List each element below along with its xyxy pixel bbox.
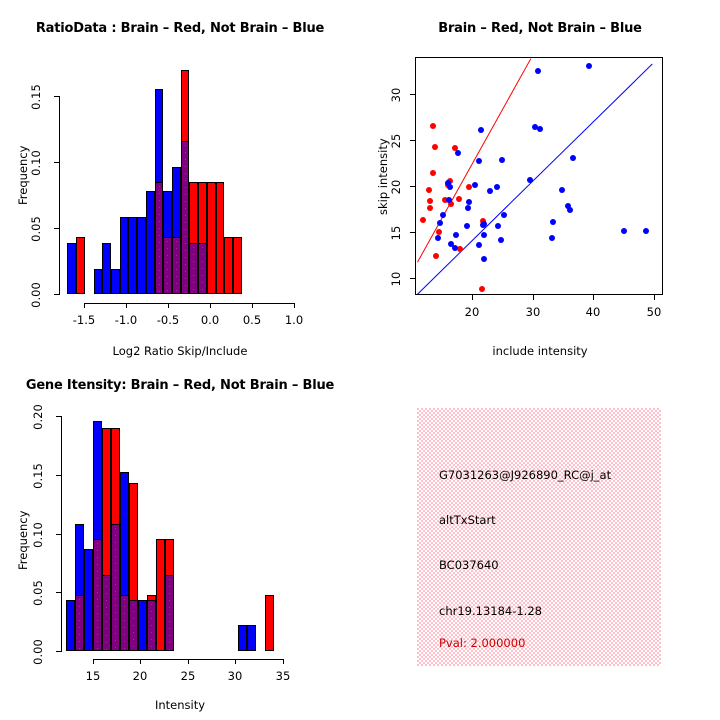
scatter-point bbox=[437, 220, 443, 226]
scatter-ylabel: skip intensity bbox=[376, 138, 390, 215]
scatter-point bbox=[452, 245, 458, 251]
scatter-ytick-4: 30 bbox=[389, 83, 403, 107]
ratio-histogram-xlabel: Log2 Ratio Skip/Include bbox=[0, 344, 360, 358]
histogram-bar-overlap bbox=[129, 600, 138, 651]
scatter-x-tick-1 bbox=[533, 295, 534, 300]
gene-x-tick-3 bbox=[235, 659, 236, 664]
gene-histogram-xlabel: Intensity bbox=[0, 698, 360, 712]
x-tick-2 bbox=[168, 303, 169, 308]
gene-histogram-ytick-0: 0.00 bbox=[31, 636, 45, 668]
scatter-point bbox=[420, 217, 426, 223]
gene-histogram-xtick-3: 30 bbox=[215, 669, 255, 683]
histogram-bar bbox=[84, 549, 93, 651]
histogram-bar bbox=[111, 269, 120, 294]
scatter-point bbox=[479, 286, 485, 292]
scatter-point bbox=[456, 196, 462, 202]
histogram-bar bbox=[156, 539, 165, 651]
histogram-bar bbox=[120, 217, 129, 294]
ratio-histogram-ytick-3: 0.15 bbox=[29, 81, 43, 113]
ratio-histogram-ytick-0: 0.00 bbox=[29, 279, 43, 311]
scatter-point bbox=[559, 187, 565, 193]
y-tick-2 bbox=[54, 162, 59, 163]
scatter-ytick-0: 10 bbox=[389, 267, 403, 291]
scatter-point bbox=[481, 232, 487, 238]
scatter-point bbox=[455, 150, 461, 156]
histogram-bar-overlap bbox=[120, 595, 129, 651]
scatter-ytick-2: 20 bbox=[389, 175, 403, 199]
gene-y-tick-2 bbox=[56, 534, 61, 535]
gene-histogram-xtick-2: 25 bbox=[168, 669, 208, 683]
ratio-histogram-y-axis bbox=[59, 96, 60, 295]
ratio-histogram-xtick-3: 0.0 bbox=[190, 313, 230, 327]
gene-histogram-ytick-2: 0.10 bbox=[31, 519, 45, 551]
scatter-point bbox=[570, 155, 576, 161]
histogram-bar bbox=[76, 237, 85, 294]
gene-histogram-title: Gene Itensity: Brain – Red, Not Brain – … bbox=[0, 378, 360, 393]
histogram-bar-overlap bbox=[111, 524, 120, 651]
pval-text: Pval: 2.000000 bbox=[439, 636, 525, 650]
histogram-bar-overlap bbox=[172, 237, 181, 294]
scatter-y-tick-0 bbox=[410, 278, 415, 279]
gene-histogram-y-axis bbox=[61, 416, 62, 652]
histogram-bar bbox=[265, 595, 274, 651]
x-tick-5 bbox=[294, 303, 295, 308]
gene-histogram-ylabel: Frequency bbox=[16, 511, 30, 570]
histogram-bar bbox=[128, 217, 137, 294]
scatter-y-tick-2 bbox=[410, 186, 415, 187]
gene-y-tick-0 bbox=[56, 651, 61, 652]
scatter-xtick-3: 50 bbox=[634, 305, 674, 319]
scatter-point bbox=[537, 126, 543, 132]
histogram-bar bbox=[224, 237, 233, 294]
panel-ratio-histogram: RatioData : Brain – Red, Not Brain – Blu… bbox=[0, 0, 360, 360]
histogram-bar-overlap bbox=[155, 182, 164, 294]
histogram-bar-overlap bbox=[165, 575, 174, 651]
scatter-x-tick-2 bbox=[593, 295, 594, 300]
gene-x-tick-2 bbox=[188, 659, 189, 664]
histogram-bar bbox=[238, 625, 247, 651]
histogram-bar bbox=[247, 625, 256, 651]
scatter-xtick-2: 40 bbox=[573, 305, 613, 319]
y-tick-3 bbox=[54, 96, 59, 97]
ratio-histogram-xtick-1: -1.0 bbox=[106, 313, 146, 327]
locus-text: chr19.13184-1.28 bbox=[439, 604, 542, 618]
scatter-point bbox=[464, 223, 470, 229]
scatter-point bbox=[476, 158, 482, 164]
ratio-histogram-xtick-0: -1.5 bbox=[64, 313, 104, 327]
scatter-ytick-1: 15 bbox=[389, 221, 403, 245]
gene-y-tick-4 bbox=[56, 416, 61, 417]
gene-histogram-ytick-3: 0.15 bbox=[31, 460, 45, 492]
scatter-y-tick-3 bbox=[410, 140, 415, 141]
scatter-xtick-0: 20 bbox=[452, 305, 492, 319]
histogram-bar bbox=[146, 191, 155, 294]
x-tick-3 bbox=[210, 303, 211, 308]
scatter-point bbox=[427, 205, 433, 211]
histogram-bar-overlap bbox=[163, 237, 172, 294]
gene-histogram-ytick-1: 0.05 bbox=[31, 577, 45, 609]
gene-histogram-xtick-1: 20 bbox=[120, 669, 160, 683]
histogram-bar-overlap bbox=[198, 243, 207, 294]
gene-x-tick-4 bbox=[283, 659, 284, 664]
scatter-xlabel: include intensity bbox=[360, 344, 720, 358]
x-tick-4 bbox=[252, 303, 253, 308]
ratio-histogram-xtick-2: -0.5 bbox=[148, 313, 188, 327]
ratio-histogram-ylabel: Frequency bbox=[16, 146, 30, 205]
histogram-bar bbox=[216, 182, 225, 294]
scatter-point bbox=[498, 237, 504, 243]
ratio-histogram-x-axis bbox=[84, 303, 294, 304]
accession-text: BC037640 bbox=[439, 558, 499, 572]
event-type-text: altTxStart bbox=[439, 513, 496, 527]
probe-id-text: G7031263@J926890_RC@j_at bbox=[439, 468, 611, 482]
scatter-point bbox=[621, 228, 627, 234]
scatter-xtick-1: 30 bbox=[513, 305, 553, 319]
gene-x-tick-1 bbox=[140, 659, 141, 664]
scatter-point bbox=[643, 228, 649, 234]
scatter-y-tick-1 bbox=[410, 232, 415, 233]
scatter-title: Brain – Red, Not Brain – Blue bbox=[360, 21, 720, 36]
gene-x-tick-0 bbox=[93, 659, 94, 664]
histogram-bar bbox=[102, 243, 111, 294]
gene-y-tick-1 bbox=[56, 592, 61, 593]
histogram-bar-overlap bbox=[93, 539, 102, 651]
r-graphics-figure: RatioData : Brain – Red, Not Brain – Blu… bbox=[0, 0, 720, 720]
scatter-point bbox=[465, 205, 471, 211]
histogram-bar bbox=[207, 182, 216, 294]
scatter-point bbox=[494, 184, 500, 190]
histogram-bar-overlap bbox=[102, 575, 111, 651]
gene-histogram-ytick-4: 0.20 bbox=[31, 401, 45, 433]
histogram-bar bbox=[94, 269, 103, 294]
histogram-bar bbox=[138, 600, 147, 651]
scatter-point bbox=[495, 223, 501, 229]
ratio-histogram-title: RatioData : Brain – Red, Not Brain – Blu… bbox=[0, 21, 360, 36]
scatter-point bbox=[527, 177, 533, 183]
scatter-x-tick-3 bbox=[654, 295, 655, 300]
scatter-point bbox=[447, 184, 453, 190]
histogram-bar bbox=[67, 243, 76, 294]
histogram-bar-overlap bbox=[181, 141, 190, 294]
scatter-point bbox=[501, 212, 507, 218]
gene-y-tick-3 bbox=[56, 475, 61, 476]
scatter-point bbox=[432, 144, 438, 150]
y-tick-0 bbox=[54, 294, 59, 295]
histogram-bar bbox=[66, 600, 75, 651]
panel-annotation-info: G7031263@J926890_RC@j_at altTxStart BC03… bbox=[360, 360, 720, 720]
ratio-histogram-ytick-2: 0.10 bbox=[29, 147, 43, 179]
histogram-bar-overlap bbox=[189, 243, 198, 294]
histogram-bar bbox=[137, 217, 146, 294]
ratio-histogram-ytick-1: 0.05 bbox=[29, 213, 43, 245]
gene-histogram-xtick-4: 35 bbox=[263, 669, 303, 683]
scatter-point bbox=[466, 184, 472, 190]
histogram-bar-overlap bbox=[147, 600, 156, 651]
histogram-bar-overlap bbox=[75, 595, 84, 651]
ratio-histogram-xtick-4: 0.5 bbox=[232, 313, 272, 327]
histogram-bar bbox=[233, 237, 242, 294]
y-tick-1 bbox=[54, 228, 59, 229]
x-tick-0 bbox=[84, 303, 85, 308]
annotation-info-box: G7031263@J926890_RC@j_at altTxStart BC03… bbox=[417, 408, 661, 666]
x-tick-1 bbox=[126, 303, 127, 308]
scatter-x-tick-0 bbox=[472, 295, 473, 300]
scatter-ytick-3: 25 bbox=[389, 129, 403, 153]
scatter-point bbox=[440, 212, 446, 218]
gene-histogram-xtick-0: 15 bbox=[73, 669, 113, 683]
scatter-y-tick-4 bbox=[410, 94, 415, 95]
panel-intensity-scatter: Brain – Red, Not Brain – Blue skip inten… bbox=[360, 0, 720, 360]
panel-gene-intensity-histogram: Gene Itensity: Brain – Red, Not Brain – … bbox=[0, 360, 360, 720]
ratio-histogram-xtick-5: 1.0 bbox=[274, 313, 314, 327]
